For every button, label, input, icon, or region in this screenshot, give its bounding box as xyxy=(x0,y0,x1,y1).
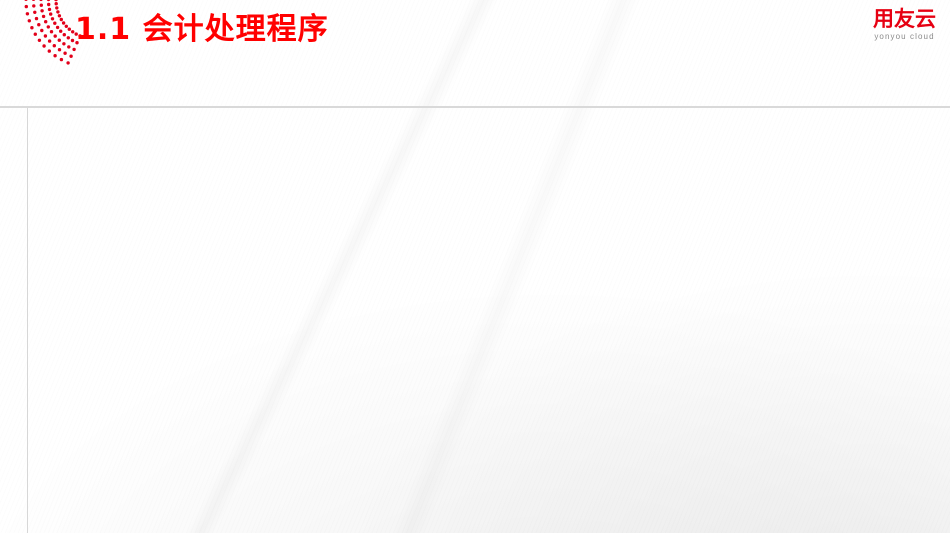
brand-logo-en: yonyou cloud xyxy=(873,31,936,42)
slide-canvas: 1.1 会计处理程序 用友云 yonyou cloud 基本步骤图 xyxy=(0,0,950,533)
header-divider xyxy=(0,106,950,108)
brand-logo-cn: 用友云 xyxy=(873,8,936,31)
page-title: 1.1 会计处理程序 xyxy=(75,4,329,48)
brand-logo: 用友云 yonyou cloud xyxy=(873,8,936,42)
left-margin-rule xyxy=(27,108,28,533)
slide-header: 1.1 会计处理程序 用友云 yonyou cloud xyxy=(0,0,950,53)
